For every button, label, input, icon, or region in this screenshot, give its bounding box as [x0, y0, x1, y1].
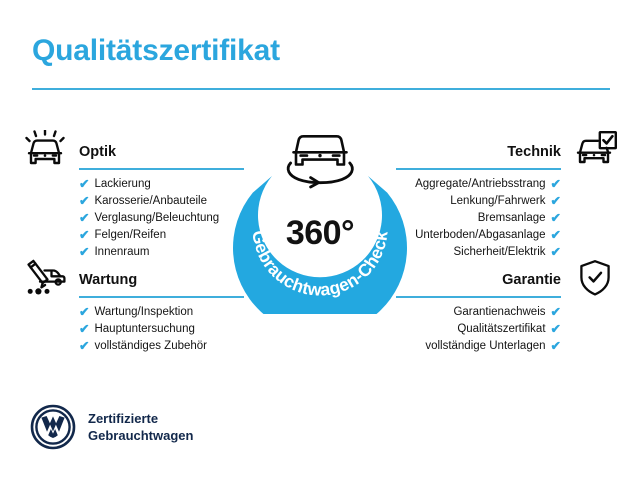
check-list-wartung: ✔ Wartung/Inspektion ✔ Hauptuntersuchung…	[79, 304, 207, 355]
check-icon: ✔	[79, 246, 89, 259]
list-item-label: Qualitätszertifikat	[457, 321, 545, 338]
check-list-technik: ✔ Aggregate/Antriebsstrang ✔ Lenkung/Fah…	[415, 176, 561, 261]
list-item: ✔ Garantienachweis	[425, 304, 561, 321]
check-icon: ✔	[551, 323, 561, 336]
list-item: ✔ Wartung/Inspektion	[79, 304, 207, 321]
section-header: Garantie	[396, 258, 618, 300]
list-item-label: Wartung/Inspektion	[94, 304, 193, 321]
list-item-label: Felgen/Reifen	[94, 227, 166, 244]
footer-brand-lockup: Zertifizierte Gebrauchtwagen	[30, 404, 193, 450]
check-icon: ✔	[79, 195, 89, 208]
list-item-label: vollständige Unterlagen	[425, 338, 545, 355]
section-divider	[79, 296, 244, 298]
car-shine-icon	[22, 130, 68, 170]
section-header: Optik	[22, 130, 244, 172]
footer-text: Zertifizierte Gebrauchtwagen	[88, 410, 193, 444]
check-icon: ✔	[79, 323, 89, 336]
check-icon: ✔	[551, 195, 561, 208]
list-item: ✔ Lenkung/Fahrwerk	[415, 193, 561, 210]
list-item-label: Lackierung	[94, 176, 150, 193]
check-icon: ✔	[551, 178, 561, 191]
section-title: Wartung	[79, 272, 137, 288]
list-item: ✔ Karosserie/Anbauteile	[79, 193, 219, 210]
check-icon: ✔	[79, 212, 89, 225]
section-header: Technik	[396, 130, 618, 172]
shield-check-icon	[572, 258, 618, 298]
footer-line-1: Zertifizierte	[88, 410, 193, 427]
service-pen-car-icon	[22, 258, 68, 298]
section-divider	[396, 296, 561, 298]
list-item-label: Karosserie/Anbauteile	[94, 193, 207, 210]
list-item-label: Garantienachweis	[453, 304, 545, 321]
list-item-label: Unterboden/Abgasanlage	[415, 227, 545, 244]
check-icon: ✔	[79, 306, 89, 319]
list-item: ✔ Aggregate/Antriebsstrang	[415, 176, 561, 193]
section-title: Optik	[79, 144, 116, 160]
list-item: ✔ Qualitätszertifikat	[425, 321, 561, 338]
badge-360-gebrauchtwagen-check: Gebrauchtwagen-Check 360°	[228, 118, 412, 314]
check-icon: ✔	[79, 229, 89, 242]
check-icon: ✔	[551, 306, 561, 319]
list-item: ✔ Lackierung	[79, 176, 219, 193]
car-checkbox-icon	[572, 130, 618, 170]
list-item: ✔ Felgen/Reifen	[79, 227, 219, 244]
check-icon: ✔	[79, 178, 89, 191]
section-technik: Technik ✔ Aggregate/Antriebsstrang ✔ Len…	[396, 130, 618, 172]
list-item: ✔ Verglasung/Beleuchtung	[79, 210, 219, 227]
section-divider	[79, 168, 244, 170]
section-title: Garantie	[502, 272, 561, 288]
page-title: Qualitätszertifikat	[32, 34, 280, 68]
check-icon: ✔	[551, 229, 561, 242]
section-divider	[396, 168, 561, 170]
check-icon: ✔	[551, 246, 561, 259]
check-list-garantie: ✔ Garantienachweis ✔ Qualitätszertifikat…	[425, 304, 561, 355]
list-item: ✔ vollständiges Zubehör	[79, 338, 207, 355]
title-divider	[32, 88, 610, 90]
check-icon: ✔	[551, 340, 561, 353]
car-rotation-icon	[288, 136, 352, 187]
list-item: ✔ vollständige Unterlagen	[425, 338, 561, 355]
list-item-label: Verglasung/Beleuchtung	[94, 210, 219, 227]
list-item: ✔ Unterboden/Abgasanlage	[415, 227, 561, 244]
list-item: ✔ Hauptuntersuchung	[79, 321, 207, 338]
check-icon: ✔	[79, 340, 89, 353]
footer-line-2: Gebrauchtwagen	[88, 427, 193, 444]
list-item: ✔ Bremsanlage	[415, 210, 561, 227]
section-header: Wartung	[22, 258, 244, 300]
certificate-page: Qualitätszertifikat Optik ✔ Lackierung	[0, 0, 640, 480]
check-icon: ✔	[551, 212, 561, 225]
section-optik: Optik ✔ Lackierung ✔ Karosserie/Anbautei…	[22, 130, 244, 172]
list-item-label: vollständiges Zubehör	[94, 338, 207, 355]
section-title: Technik	[507, 144, 561, 160]
list-item-label: Bremsanlage	[478, 210, 546, 227]
list-item-label: Aggregate/Antriebsstrang	[415, 176, 545, 193]
list-item-label: Hauptuntersuchung	[94, 321, 194, 338]
list-item-label: Lenkung/Fahrwerk	[450, 193, 545, 210]
volkswagen-logo	[30, 404, 76, 450]
badge-degrees: 360°	[228, 214, 412, 253]
section-garantie: Garantie ✔ Garantienachweis ✔ Qualitätsz…	[396, 258, 618, 300]
check-list-optik: ✔ Lackierung ✔ Karosserie/Anbauteile ✔ V…	[79, 176, 219, 261]
section-wartung: Wartung ✔ Wartung/Inspektion ✔ Hauptunte…	[22, 258, 244, 300]
